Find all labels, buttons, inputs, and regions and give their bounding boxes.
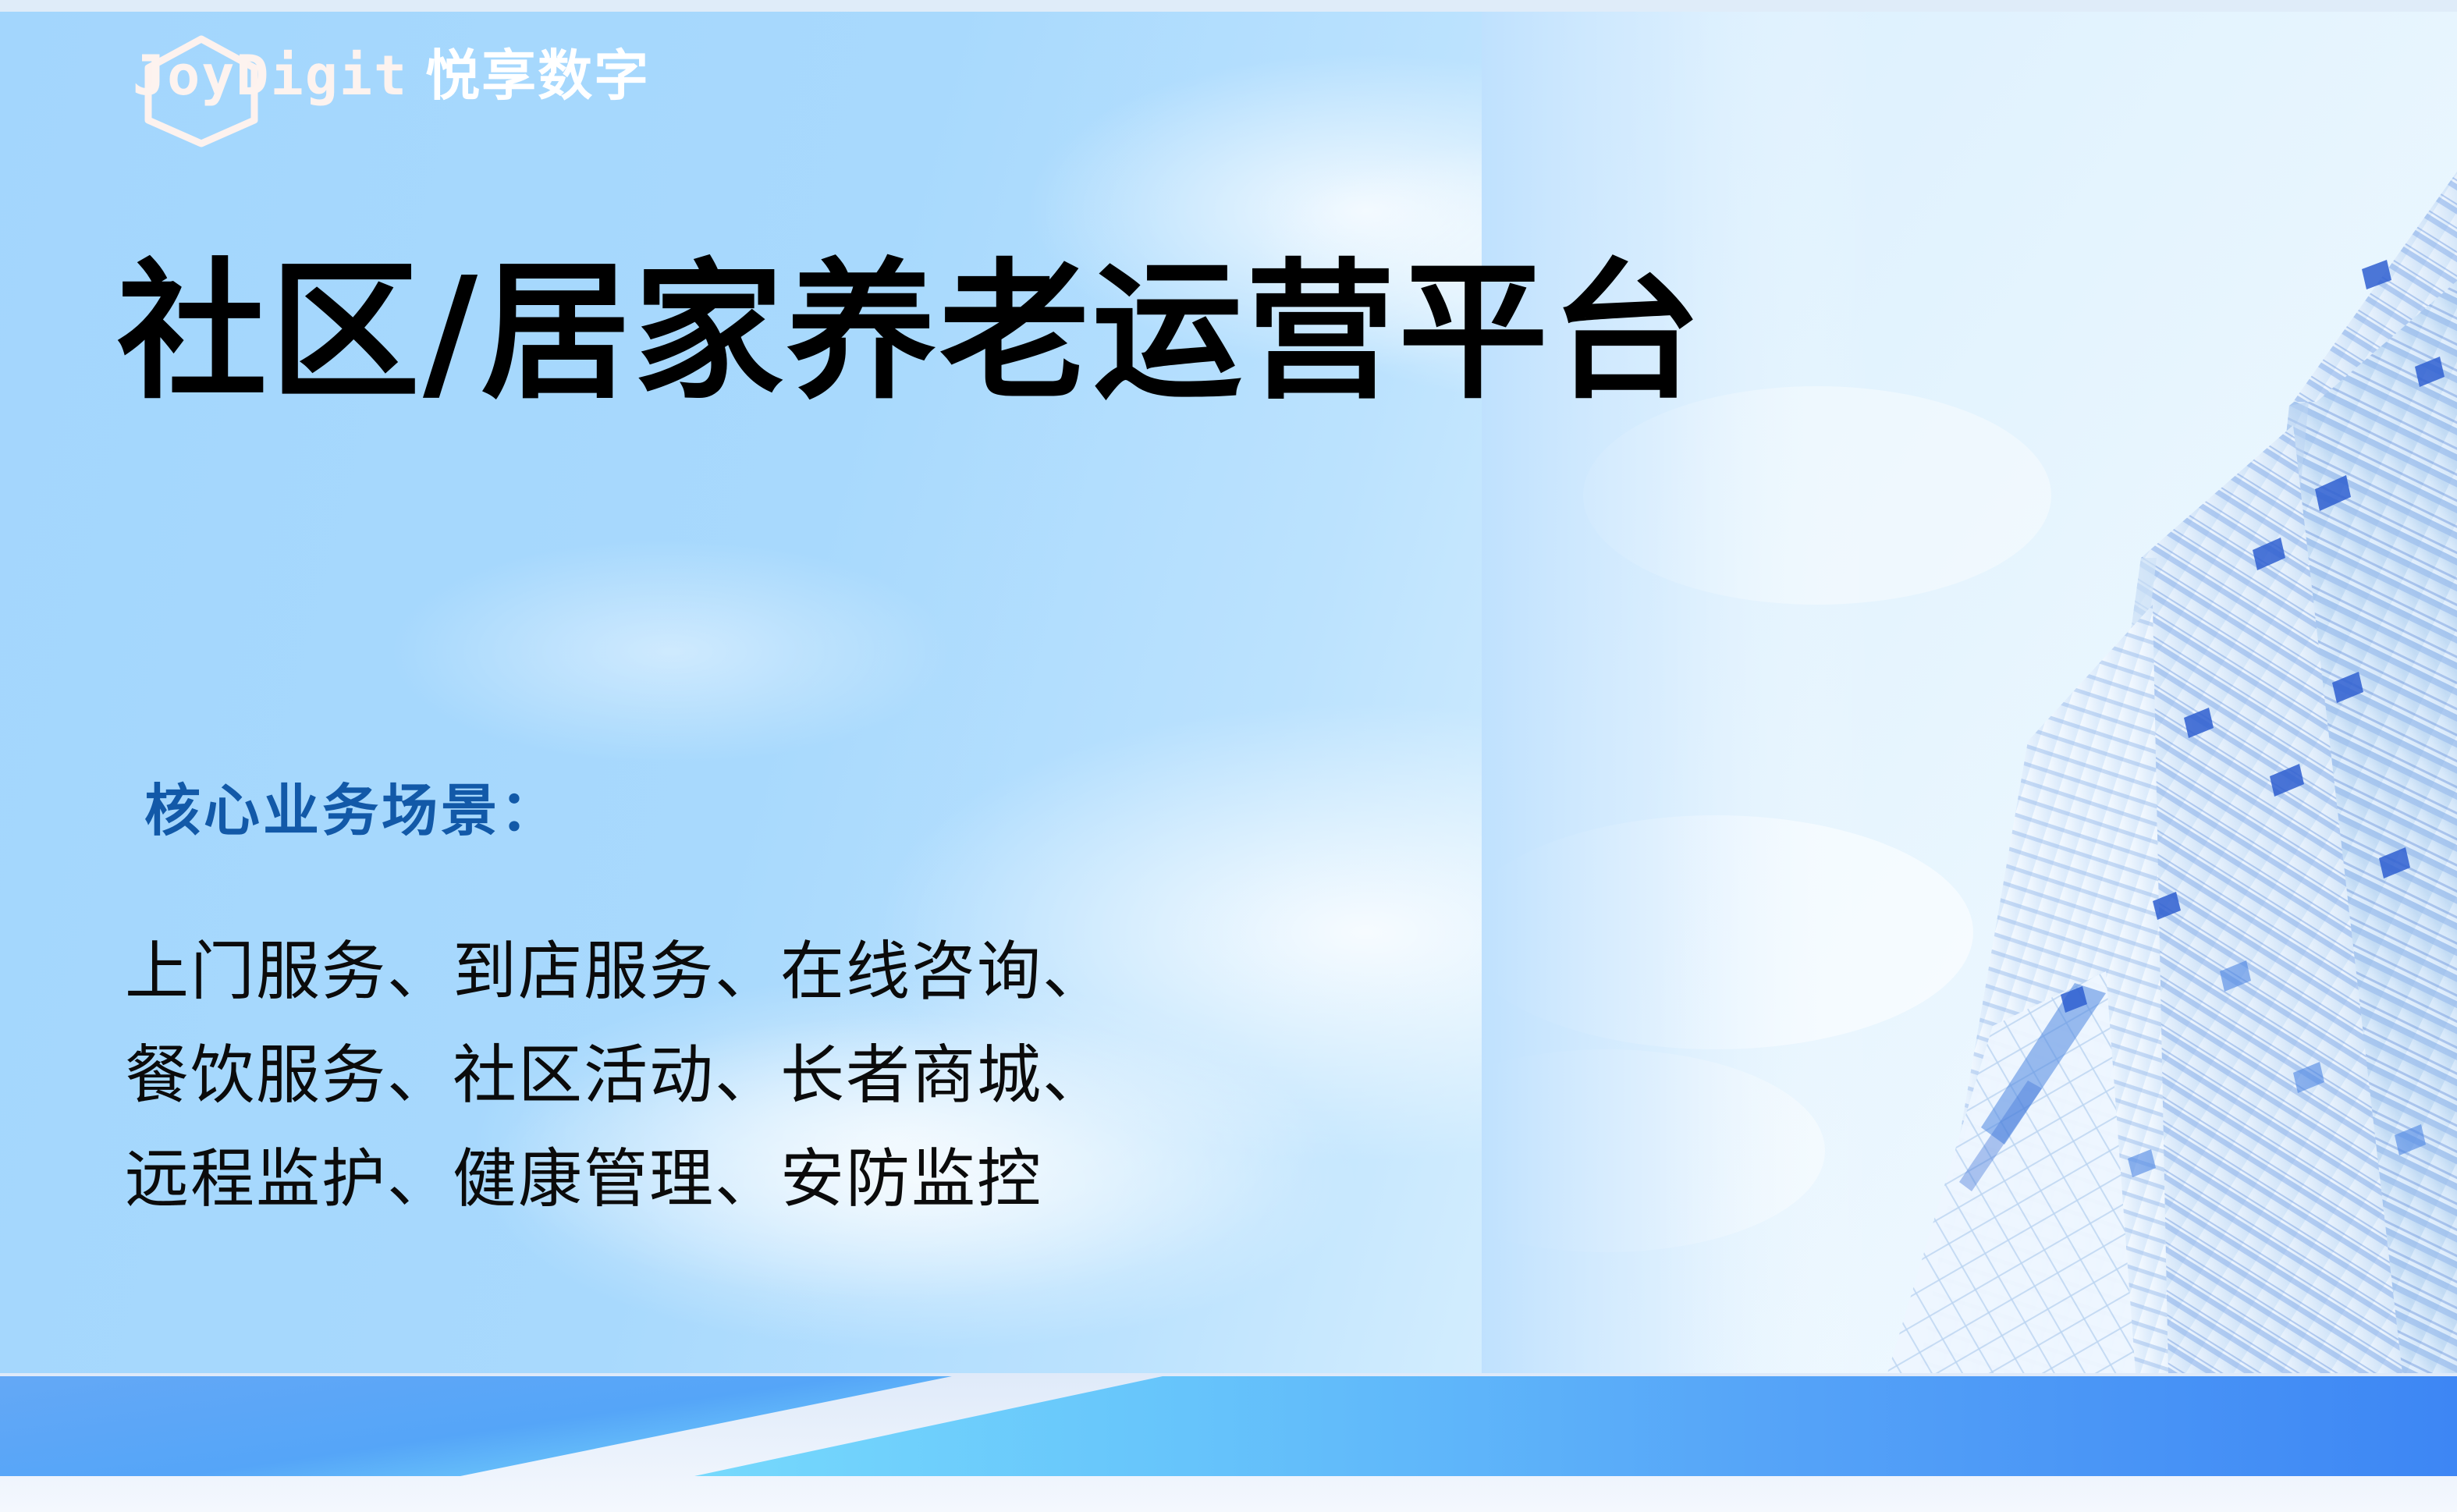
scenario-line-3: 远程监护、健康管理、安防监控 (125, 1128, 1108, 1232)
logo-chinese-text: 悦享数字 (425, 48, 650, 103)
scenario-line-2: 餐饮服务、社区活动、长者商城、 (125, 1024, 1108, 1128)
bottom-decoration-band (0, 1373, 2457, 1512)
logo-mark-text: JoyDigit (133, 48, 408, 103)
skyscraper-photo (1482, 12, 2457, 1373)
logo-wordmark: JoyDigit 悦享数字 (133, 48, 694, 103)
brand-logo[interactable]: JoyDigit 悦享数字 (133, 31, 694, 144)
top-strip (0, 0, 2457, 12)
page-title: 社区/居家养老运营平台 (117, 254, 1704, 413)
scenario-list: 上门服务、到店服务、在线咨询、 餐饮服务、社区活动、长者商城、 远程监护、健康管… (125, 921, 1108, 1231)
section-subheading: 核心业务场景： (144, 780, 559, 842)
scenario-line-1: 上门服务、到店服务、在线咨询、 (125, 921, 1108, 1024)
slide-canvas: JoyDigit 悦享数字 社区/居家养老运营平台 核心业务场景： 上门服务、到… (0, 0, 2457, 1512)
